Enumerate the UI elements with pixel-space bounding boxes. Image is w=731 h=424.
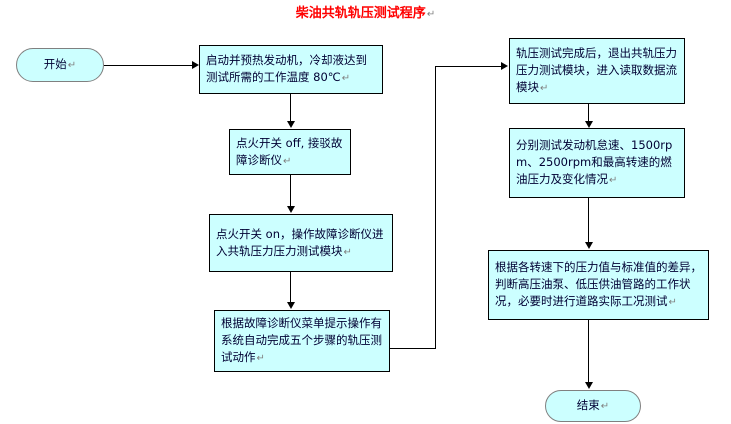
paragraph-mark-step1: ↵: [341, 73, 350, 84]
edge-start-to-step1: [104, 65, 192, 66]
paragraph-mark-step4: ↵: [256, 353, 265, 364]
node-start-label: 开始↵: [17, 56, 103, 74]
edge-step4-to-step5-segment-3: [435, 66, 502, 67]
arrowhead-step3-to-step4: [287, 302, 295, 309]
edge-step4-to-step5-segment-1: [390, 348, 436, 349]
node-step7[interactable]: 根据各转速下的压力值与标准值的差异，判断高压油泵、低压供油管路的工作状况，必要时…: [488, 250, 709, 320]
node-end[interactable]: 结束↵: [545, 390, 641, 422]
arrowhead-step5-to-step6: [585, 121, 593, 128]
node-step1-label: 启动并预热发动机，冷却液达到测试所需的工作温度 80℃↵: [200, 52, 382, 87]
node-start[interactable]: 开始↵: [16, 48, 104, 82]
paragraph-mark-step5: ↵: [539, 83, 548, 94]
paragraph-mark-step3: ↵: [343, 247, 352, 258]
arrowhead-start-to-step1: [192, 61, 199, 69]
edge-step5-to-step6: [588, 104, 589, 122]
paragraph-mark-end: ↵: [600, 401, 609, 412]
node-step5-label: 轨压测试完成后，退出共轨压力压力测试模块，进入读取数据流模块↵: [510, 45, 684, 97]
arrowhead-step1-to-step2: [287, 121, 295, 128]
edge-step6-to-step7: [588, 198, 589, 243]
node-step6-label: 分别测试发动机怠速、1500rpm、2500rpm和最高转速的燃油压力及变化情况…: [510, 137, 684, 189]
node-end-label: 结束↵: [546, 397, 640, 415]
paragraph-mark-title: ↵: [426, 9, 435, 20]
flowchart-page: 柴油共轨轨压测试程序↵ 开始↵ 启动并预热发动机，冷却液达到测试所需的工作温度 …: [0, 0, 731, 424]
arrowhead-step2-to-step3: [287, 206, 295, 213]
node-step4-label: 根据故障诊断仪菜单提示操作有系统自动完成五个步骤的轨压测试动作↵: [215, 315, 389, 367]
node-step3[interactable]: 点火开关 on，操作故障诊断仪进入共轨压力压力测试模块↵: [209, 214, 393, 272]
node-step2-label: 点火开关 off, 接驳故障诊断仪↵: [230, 135, 350, 170]
page-title-text: 柴油共轨轨压测试程序: [296, 6, 426, 21]
page-title: 柴油共轨轨压测试程序↵: [0, 2, 731, 21]
paragraph-mark-step6: ↵: [608, 175, 617, 186]
node-step4[interactable]: 根据故障诊断仪菜单提示操作有系统自动完成五个步骤的轨压测试动作↵: [214, 310, 390, 372]
paragraph-mark-step7: ↵: [668, 297, 677, 308]
node-step2[interactable]: 点火开关 off, 接驳故障诊断仪↵: [229, 129, 351, 175]
paragraph-mark-start: ↵: [67, 60, 76, 71]
node-step7-label: 根据各转速下的压力值与标准值的差异，判断高压油泵、低压供油管路的工作状况，必要时…: [489, 259, 708, 311]
arrowhead-step4-to-step5: [501, 62, 508, 70]
edge-step2-to-step3: [290, 175, 291, 207]
arrowhead-step6-to-step7: [585, 242, 593, 249]
edge-step4-to-step5-segment-2: [435, 66, 436, 349]
node-step5[interactable]: 轨压测试完成后，退出共轨压力压力测试模块，进入读取数据流模块↵: [509, 38, 685, 104]
edge-step3-to-step4: [290, 272, 291, 303]
node-step6[interactable]: 分别测试发动机怠速、1500rpm、2500rpm和最高转速的燃油压力及变化情况…: [509, 128, 685, 198]
node-step3-label: 点火开关 on，操作故障诊断仪进入共轨压力压力测试模块↵: [210, 226, 392, 261]
edge-step1-to-step2: [290, 94, 291, 122]
node-step1[interactable]: 启动并预热发动机，冷却液达到测试所需的工作温度 80℃↵: [199, 45, 383, 94]
edge-step7-to-end: [588, 320, 589, 383]
paragraph-mark-step2: ↵: [282, 156, 291, 167]
arrowhead-step7-to-end: [585, 382, 593, 389]
